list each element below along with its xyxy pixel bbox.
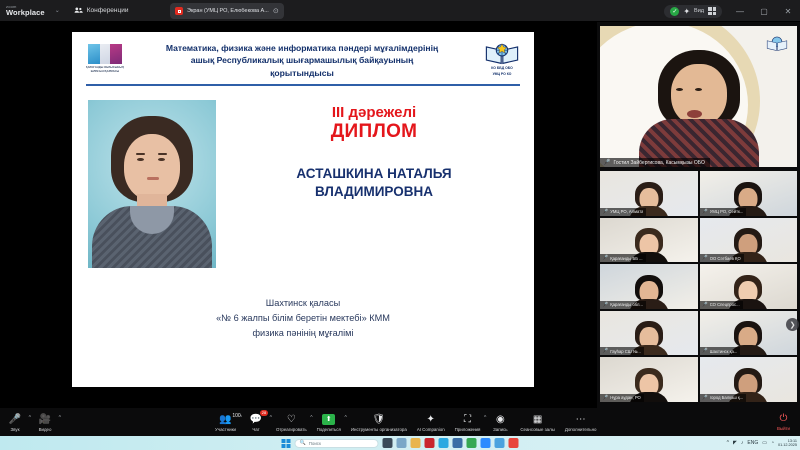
chevron-down-icon[interactable]: ⌄ <box>55 7 60 14</box>
participant-name-bar: 🎤ОО Сәтбаев ҚО <box>700 254 744 262</box>
taskview-icon[interactable] <box>383 438 393 448</box>
taskbar-apps <box>383 438 519 448</box>
view-label: Вид <box>694 8 704 14</box>
toolbar-left-group: 🎤Звук^🎥Видео^ <box>0 412 60 432</box>
participant-name-bar: 🎤Гауһар СШ №... <box>600 347 644 355</box>
zoom-meeting-toolbar: 🎤Звук^🎥Видео^ 👥100Участники^💬28Чат^♡Отре… <box>0 408 800 436</box>
participant-name-bar: 🎤Шахтинск қа... <box>700 347 741 355</box>
toolbar-item-share-screen[interactable]: ⬆Поделиться^ <box>312 412 346 432</box>
slide-title: Математика, физика және информатика пәнд… <box>132 40 472 79</box>
share-screen-icon: ⬆ <box>322 413 335 425</box>
taskbar-clock[interactable]: 13:11 01.12.2025 <box>778 439 797 447</box>
participant-tile[interactable]: 🎤СО Спецпрос... <box>700 264 798 309</box>
recipient-name-line-2: ВЛАДИМИРОВНА <box>228 183 520 201</box>
chevron-up-icon[interactable]: ^ <box>59 415 61 421</box>
logo-right-line-1: КО ББД ОБО <box>478 66 526 71</box>
toolbar-item-host-tools[interactable]: 🛡Инструменты организатора <box>346 412 412 432</box>
photos-icon[interactable] <box>495 438 505 448</box>
zoom-title-bar: zoom Workplace ⌄ Конференции Экран (УМЦ … <box>0 0 800 22</box>
participant-name-bar: 🎤Қарағанды ББ ... <box>600 254 646 262</box>
telegram-icon[interactable] <box>439 438 449 448</box>
open-book-globe-icon <box>483 42 521 65</box>
toolbar-item-mic-muted[interactable]: 🎤Звук^ <box>0 412 30 432</box>
security-shield-icon: ✓ <box>670 7 679 16</box>
ai-sparkle-icon[interactable]: ✦ <box>683 7 690 16</box>
participant-name-bar: 🎤УМЦ РО, Алмата <box>600 208 646 216</box>
toolbar-item-label: Дополнительно <box>565 427 597 432</box>
toolbar-item-more[interactable]: ⋯Дополнительно <box>560 412 602 432</box>
mic-muted-icon: 🎤 <box>702 254 708 262</box>
leave-meeting-label: Выйти <box>777 426 790 431</box>
slide-header: ҚАРАҒАНДЫ ОБЛЫСЫНЫҢ БІЛІМ БАСҚАРМАСЫ Мат… <box>72 32 534 79</box>
participant-name-bar: 🎤Нұра аудан, РО <box>600 394 644 402</box>
karaganda-education-logo: ҚАРАҒАНДЫ ОБЛЫСЫНЫҢ БІЛІМ БАСҚАРМАСЫ <box>84 40 126 73</box>
participant-grid: 🎤УМЦ РО, Алмата🎤УМЦ РО, Сейтк...🎤Қараған… <box>600 171 797 404</box>
participants-icon: 👥100 <box>219 413 231 425</box>
leave-meeting-button[interactable]: ⏻ Выйти <box>777 413 790 431</box>
screen-share-icon <box>175 7 183 15</box>
participant-tile[interactable]: 🎤Шахтинск қа... <box>700 311 798 356</box>
participant-name-label: Гауһар СШ №... <box>610 348 641 355</box>
mic-muted-icon: 🎤 <box>602 347 608 355</box>
recipient-name-line-1: АСТАШКИНА НАТАЛЬЯ <box>228 165 520 183</box>
toolbar-item-label: Инструменты организатора <box>351 427 407 432</box>
breakout-rooms-icon: ▦ <box>533 413 542 425</box>
participant-name-label: город Балқаш қ... <box>710 394 743 401</box>
mic-muted-icon: 🎤 <box>602 254 608 262</box>
presentation-slide: ҚАРАҒАНДЫ ОБЛЫСЫНЫҢ БІЛІМ БАСҚАРМАСЫ Мат… <box>72 32 534 387</box>
tab-options-icon[interactable]: ⊙ <box>273 7 279 15</box>
windows-start-icon[interactable] <box>282 439 291 448</box>
mic-muted-icon: 🎤 <box>603 159 610 166</box>
shared-screen-tab[interactable]: Экран (УМЦ РО, Елюбекова А... ⊙ <box>170 3 284 19</box>
toolbar-item-label: Видео <box>39 427 52 432</box>
toolbar-item-reactions[interactable]: ♡Отреагировать^ <box>271 412 312 432</box>
participant-name-label: Қарағанды ББ ... <box>610 255 642 262</box>
leave-meeting-icon: ⏻ <box>780 413 788 424</box>
active-speaker-tile[interactable]: 🎤 Гостил Зайбергисова, Касымқызы ОБО <box>600 26 797 167</box>
drive-icon[interactable] <box>509 438 519 448</box>
participant-name-label: УМЦ РО, Сейтк... <box>710 208 744 215</box>
chrome-icon[interactable] <box>467 438 477 448</box>
footer-line-3: физика пәнінің мұғалімі <box>112 326 494 341</box>
explorer-icon[interactable] <box>411 438 421 448</box>
minimize-button[interactable]: — <box>728 0 752 22</box>
participant-name-label: Қарағанды обл... <box>610 301 643 308</box>
windows-taskbar: 🔍 Поиск ^ ◤ ♪ ENG ▭ ◔ 13:11 01.12.2025 <box>0 436 800 450</box>
participant-tile[interactable]: 🎤ОО Сәтбаев ҚО <box>700 218 798 263</box>
chevron-up-icon[interactable]: ^ <box>727 440 729 446</box>
participant-name-label: СО Спецпрос... <box>710 301 740 308</box>
unread-badge: 28 <box>260 410 268 416</box>
mic-muted-icon: 🎤 <box>702 347 708 355</box>
view-grid-icon[interactable] <box>708 7 716 15</box>
slide-title-line-3: қорытындысы <box>134 67 470 79</box>
maximize-button[interactable]: ▢ <box>752 0 776 22</box>
participant-tile[interactable]: 🎤УМЦ РО, Сейтк... <box>700 171 798 216</box>
slide-footer: Шахтинск қаласы «№ 6 жалпы білім беретін… <box>72 296 534 342</box>
record-icon: ◉ <box>496 413 505 425</box>
workplace-label: Workplace <box>6 9 45 17</box>
participant-name-label: УМЦ РО, Алмата <box>610 208 643 215</box>
close-button[interactable]: ✕ <box>776 0 800 22</box>
participant-name-bar: 🎤Қарағанды обл... <box>600 301 646 309</box>
footer-line-2: «№ 6 жалпы білім беретін мектебі» КММ <box>112 311 494 326</box>
conferences-label: Конференции <box>87 7 129 14</box>
toolbar-item-label: Приложения <box>455 427 481 432</box>
reactions-icon: ♡ <box>287 413 296 425</box>
diploma-text-column: III дәрежелі ДИПЛОМ АСТАШКИНА НАТАЛЬЯ ВЛ… <box>228 100 520 268</box>
toolbar-item-chat[interactable]: 💬28Чат^ <box>241 412 271 432</box>
mic-muted-icon: 🎤 <box>602 208 608 216</box>
toolbar-item-ai-sparkle[interactable]: ✦AI Companion <box>412 412 450 432</box>
mic-muted-icon: 🎤 <box>702 301 708 309</box>
toolbar-item-breakout-rooms[interactable]: ▦Сеансовые залы <box>515 412 560 432</box>
logo-left-caption: ҚАРАҒАНДЫ ОБЛЫСЫНЫҢ БІЛІМ БАСҚАРМАСЫ <box>84 66 126 73</box>
next-page-button[interactable]: ❯ <box>786 318 799 331</box>
notification-icon[interactable]: ◔ <box>771 440 774 446</box>
mic-muted-icon: 🎤 <box>702 208 708 216</box>
participant-name-label: Нұра аудан, РО <box>610 394 641 401</box>
participant-tile[interactable]: 🎤Қарағанды ББ ... <box>600 218 698 263</box>
acrobat-icon[interactable] <box>425 438 435 448</box>
conferences-nav-item[interactable]: Конференции <box>74 6 129 15</box>
taskbar-center-group: 🔍 Поиск <box>282 438 519 448</box>
apps-icon: ⛶ <box>464 413 471 425</box>
chat-icon: 💬28 <box>250 413 262 425</box>
language-icon[interactable]: ENG <box>747 440 758 446</box>
toolbar-item-label: Запись <box>493 427 507 432</box>
diploma-degree: III дәрежелі <box>228 104 520 121</box>
network-icon[interactable]: ◤ <box>733 440 737 446</box>
logo-blocks-icon <box>88 44 122 64</box>
participant-name-label: Шахтинск қа... <box>710 348 738 355</box>
slide-title-line-2: ашық Республикалық шығармашылық байқауын… <box>134 54 470 66</box>
toolbar-item-record[interactable]: ◉Запись <box>485 412 515 432</box>
window-controls-group: ✓ ✦ Вид — ▢ ✕ <box>664 0 800 22</box>
mic-muted-icon: 🎤 <box>602 394 608 402</box>
toolbar-item-participants[interactable]: 👥100Участники^ <box>210 412 241 432</box>
slide-body: III дәрежелі ДИПЛОМ АСТАШКИНА НАТАЛЬЯ ВЛ… <box>72 86 534 268</box>
toolbar-item-label: Чат <box>252 427 259 432</box>
toolbar-center-group: 👥100Участники^💬28Чат^♡Отреагировать^⬆Под… <box>210 412 601 432</box>
slide-title-line-1: Математика, физика және информатика пәнд… <box>134 42 470 54</box>
search-icon: 🔍 <box>300 440 306 446</box>
ai-sparkle-icon: ✦ <box>427 413 435 425</box>
toolbar-item-label: Отреагировать <box>276 427 307 432</box>
toolbar-item-video[interactable]: 🎥Видео^ <box>30 412 60 432</box>
toolbar-item-label: Участники <box>215 427 236 432</box>
emblem-icon <box>765 34 789 54</box>
toolbar-item-label: Сеансовые залы <box>520 427 555 432</box>
footer-line-1: Шахтинск қаласы <box>112 296 494 311</box>
system-tray: ^ ◤ ♪ ENG ▭ ◔ 13:11 01.12.2025 <box>727 439 797 447</box>
participant-name-label: ОО Сәтбаев ҚО <box>710 255 741 262</box>
participant-name-bar: 🎤УМЦ РО, Сейтк... <box>700 208 747 216</box>
sound-icon[interactable]: ♪ <box>741 440 744 446</box>
mic-muted-icon: 🎤 <box>9 413 21 425</box>
clock-date: 01.12.2025 <box>778 443 797 447</box>
shared-screen-stage: ҚАРАҒАНДЫ ОБЛЫСЫНЫҢ БІЛІМ БАСҚАРМАСЫ Мат… <box>0 22 597 408</box>
battery-icon[interactable]: ▭ <box>762 440 767 446</box>
widgets-icon[interactable] <box>397 438 407 448</box>
status-pill[interactable]: ✓ ✦ Вид <box>664 5 722 18</box>
toolbar-item-label: Поделиться <box>317 427 341 432</box>
zoom-icon[interactable] <box>481 438 491 448</box>
diploma-heading: ДИПЛОМ <box>228 121 520 143</box>
video-icon: 🎥 <box>39 413 51 425</box>
participant-tile[interactable]: 🎤УМЦ РО, Алмата <box>600 171 698 216</box>
participant-tile[interactable]: 🎤Қарағанды обл... <box>600 264 698 309</box>
zoom-workplace-logo: zoom Workplace <box>6 5 45 17</box>
video-panel: 🎤 Гостил Зайбергисова, Касымқызы ОБО 🎤УМ… <box>597 22 800 408</box>
more-icon: ⋯ <box>576 413 586 425</box>
taskbar-search-input[interactable]: 🔍 Поиск <box>295 439 379 448</box>
speaker-name-label: Гостил Зайбергисова, Касымқызы ОБО <box>613 160 704 166</box>
people-icon <box>74 6 83 15</box>
search-placeholder: Поиск <box>309 441 321 446</box>
mic-muted-icon: 🎤 <box>702 394 708 402</box>
toolbar-item-label: AI Companion <box>417 427 445 432</box>
logo-right-line-2: УМЦ РО КО <box>478 72 526 77</box>
participant-name-bar: 🎤город Балқаш қ... <box>700 394 747 402</box>
toolbar-item-apps[interactable]: ⛶Приложения^ <box>450 412 486 432</box>
mic-muted-icon: 🎤 <box>602 301 608 309</box>
host-tools-icon: 🛡 <box>372 413 385 425</box>
umc-ro-ko-logo: КО ББД ОБО УМЦ РО КО <box>478 40 526 77</box>
toolbar-item-label: Звук <box>10 427 19 432</box>
shared-screen-tab-label: Экран (УМЦ РО, Елюбекова А... <box>187 8 269 14</box>
participant-name-bar: 🎤СО Спецпрос... <box>700 301 743 309</box>
recipient-photo <box>88 100 216 268</box>
participant-tile[interactable]: 🎤Гауһар СШ №... <box>600 311 698 356</box>
participant-tile[interactable]: 🎤город Балқаш қ... <box>700 357 798 402</box>
participant-tile[interactable]: 🎤Нұра аудан, РО <box>600 357 698 402</box>
speaker-name-bar: 🎤 Гостил Зайбергисова, Касымқызы ОБО <box>600 158 710 167</box>
calculator-icon[interactable] <box>453 438 463 448</box>
